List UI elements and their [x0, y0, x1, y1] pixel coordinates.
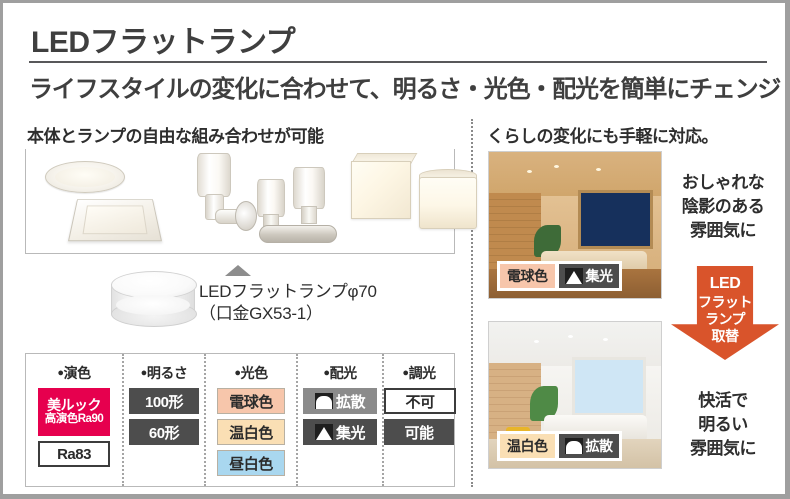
warm-photo-labels: 電球色 集光 [497, 261, 622, 291]
arrow-text: LED フラット ランプ 取替 [671, 274, 779, 345]
bright-window [572, 357, 647, 416]
round-downlight-icon [45, 161, 125, 193]
spec-column-光色: ●光色電球色温白色昼白色 [204, 354, 296, 486]
spec-swatch-電球色: 電球色 [217, 388, 285, 414]
fixture-lineup [25, 147, 455, 251]
arrow-line-3: ランプ [671, 311, 779, 328]
bright-color-label: 温白色 [500, 434, 555, 458]
bright-photo-labels: 温白色 拡散 [497, 431, 622, 461]
right-section-heading: くらしの変化にも手軽に対応。 [487, 122, 718, 147]
spec-column-明るさ: ●明るさ100形60形 [122, 354, 204, 486]
bright-distribution-text: 拡散 [586, 436, 613, 456]
cube-ceiling-light-icon [351, 161, 411, 219]
spot-icon [565, 268, 583, 284]
spec-cell-集光: 集光 [303, 419, 377, 445]
flat-lamp-caption-line1: LEDフラットランプφ70 [199, 281, 377, 303]
diffuse-icon [565, 438, 583, 454]
warm-downlight-dot-1 [527, 170, 532, 173]
wall-bracket-plate [235, 201, 257, 231]
spec-swatch-温白色: 温白色 [217, 419, 285, 445]
spec-column-配光: ●配光拡散集光 [296, 354, 382, 486]
bright-living-room-photo: 温白色 拡散 [488, 321, 662, 469]
spec-table: ●演色美ルック高演色Ra90Ra83●明るさ100形60形●光色電球色温白色昼白… [25, 353, 455, 487]
spec-cell-60形: 60形 [129, 419, 199, 445]
page-title: LEDフラットランプ [31, 17, 295, 61]
flat-lamp-caption: LEDフラットランプφ70 （口金GX53-1） [199, 281, 377, 326]
arrow-line-4: 取替 [671, 328, 779, 345]
bright-scene-caption: 快活で明るい雰囲気に [667, 389, 779, 461]
arrow-line-1: LED [671, 274, 779, 294]
spec-cell-100形: 100形 [129, 388, 199, 414]
warm-downlight-dot-3 [596, 168, 601, 171]
spot-icon [315, 424, 333, 440]
spec-cell-可能: 可能 [384, 419, 454, 445]
curved-ceiling-light-icon [419, 177, 477, 229]
spec-badge-birook: 美ルック高演色Ra90 [38, 388, 110, 436]
spec-column-調光: ●調光不可可能 [382, 354, 454, 486]
wall-bracket-light-icon [197, 153, 231, 197]
spec-column-header: ●光色 [206, 363, 296, 383]
spec-column-演色: ●演色美ルック高演色Ra90Ra83 [26, 354, 122, 486]
spec-column-header: ●明るさ [124, 363, 204, 383]
spec-column-header: ●調光 [384, 363, 454, 383]
twin-spotlight-base [259, 225, 337, 243]
lamp-replacement-arrow: LED フラット ランプ 取替 [671, 266, 779, 360]
warm-scene-caption: おしゃれな陰影のある雰囲気に [667, 171, 779, 243]
spec-cell-拡散: 拡散 [303, 388, 377, 414]
arrow-line-2: フラット [671, 294, 779, 311]
spec-cell-label: 拡散 [336, 391, 365, 412]
infographic-frame: LEDフラットランプ ライフスタイルの変化に合わせて、明るさ・光色・配光を簡単に… [3, 3, 785, 494]
warm-window [578, 190, 653, 249]
warm-distribution-text: 集光 [586, 266, 613, 286]
warm-living-room-photo: 電球色 集光 [488, 151, 662, 299]
bright-downlight-dot-3 [603, 338, 608, 341]
bright-distribution-label: 拡散 [559, 434, 619, 458]
twin-spotlight-head-right [293, 167, 325, 209]
left-section-heading: 本体とランプの自由な組み合わせが可能 [27, 122, 324, 147]
spec-column-header: ●配光 [298, 363, 382, 383]
page-subtitle: ライフスタイルの変化に合わせて、明るさ・光色・配光を簡単にチェンジ [29, 69, 780, 104]
bright-downlight-dot-1 [534, 340, 539, 343]
diffuse-icon [315, 393, 333, 409]
flat-lamp-face [116, 295, 190, 315]
warm-color-label: 電球色 [500, 264, 555, 288]
twin-spotlight-head-left [257, 179, 285, 217]
flat-lamp-caption-line2: （口金GX53-1） [199, 303, 377, 325]
square-downlight-icon [68, 199, 162, 241]
spec-cell-label: 集光 [336, 422, 365, 443]
spec-swatch-昼白色: 昼白色 [217, 450, 285, 476]
flat-lamp-product-image [111, 271, 195, 327]
warm-distribution-label: 集光 [559, 264, 619, 288]
spec-column-header: ●演色 [26, 363, 122, 383]
header-divider [29, 61, 767, 63]
spec-cell-Ra83: Ra83 [38, 441, 110, 467]
twin-spotlight-neck-right [301, 206, 317, 224]
spec-cell-不可: 不可 [384, 388, 456, 414]
up-arrow-icon [225, 265, 251, 276]
